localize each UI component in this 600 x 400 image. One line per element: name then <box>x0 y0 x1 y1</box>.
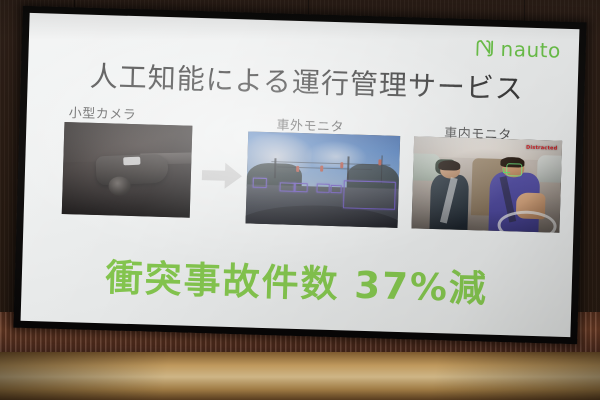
dashcam-device-photo <box>62 122 193 218</box>
projection-screen: nauto 人工知能による運行管理サービス 小型カメラ 車外モニタ 車内モニタ <box>13 6 586 345</box>
photo-vignette <box>62 122 193 218</box>
interior-cabin-monitor-photo: Distracted <box>411 136 562 232</box>
nauto-n-mark-icon <box>474 38 495 59</box>
wall-gold-shading <box>0 352 600 400</box>
photo-tint <box>246 131 401 227</box>
nauto-wordmark: nauto <box>500 39 561 61</box>
caption-small-camera: 小型カメラ <box>68 102 136 123</box>
photo-vignette <box>411 136 562 232</box>
nauto-logo: nauto <box>474 38 561 61</box>
right-arrow-icon <box>201 160 244 191</box>
exterior-road-detection-photo <box>246 131 401 227</box>
headline-statistic: 衝突事故件数 37%減 <box>21 245 572 315</box>
presentation-slide: nauto 人工知能による運行管理サービス 小型カメラ 車外モニタ 車内モニタ <box>21 13 580 337</box>
slide-title: 人工知能による運行管理サービス <box>89 55 560 109</box>
